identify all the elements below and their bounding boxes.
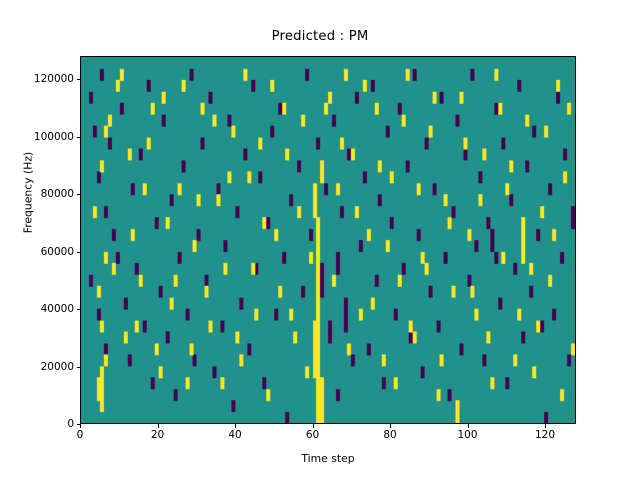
x-tick-label: 100 [428, 429, 508, 441]
y-tick-mark [77, 252, 81, 253]
x-tick-mark [313, 424, 314, 428]
y-tick-mark [77, 137, 81, 138]
x-tick-label: 80 [350, 429, 430, 441]
y-tick-label: 60000 [0, 247, 74, 257]
y-axis-label: Frequency (Hz) [22, 113, 35, 273]
y-tick-mark [77, 367, 81, 368]
y-tick-label: 20000 [0, 362, 74, 372]
x-tick-mark [235, 424, 236, 428]
matplotlib-figure: Predicted : PM 0200004000060000800001000… [0, 0, 640, 480]
heatmap-image [81, 57, 575, 423]
y-tick-label: 80000 [0, 189, 74, 199]
y-tick-mark [77, 79, 81, 80]
x-tick-label: 20 [118, 429, 198, 441]
x-tick-mark [390, 424, 391, 428]
x-tick-mark [80, 424, 81, 428]
y-tick-label: 40000 [0, 304, 74, 314]
x-tick-mark [468, 424, 469, 428]
chart-title: Predicted : PM [0, 29, 640, 44]
x-tick-mark [158, 424, 159, 428]
y-tick-mark [77, 194, 81, 195]
x-tick-label: 40 [195, 429, 275, 441]
heatmap-axes [80, 56, 576, 424]
y-tick-mark [77, 309, 81, 310]
y-tick-label: 0 [0, 419, 74, 429]
y-tick-label: 120000 [0, 74, 74, 84]
x-tick-mark [545, 424, 546, 428]
x-tick-label: 120 [505, 429, 585, 441]
x-tick-label: 60 [273, 429, 353, 441]
y-tick-label: 100000 [0, 132, 74, 142]
x-axis-label: Time step [80, 452, 576, 465]
x-tick-label: 0 [40, 429, 120, 441]
